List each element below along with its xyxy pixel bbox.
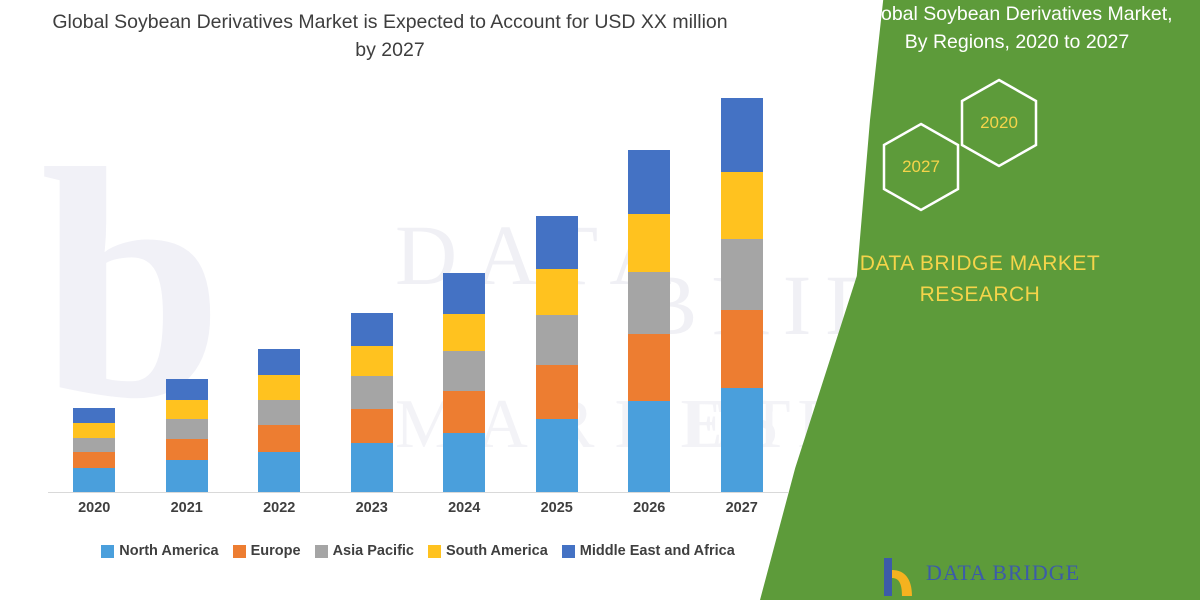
hexagon-2027: 2027: [880, 121, 962, 213]
brand-panel: Global Soybean Derivatives Market, By Re…: [760, 0, 1200, 600]
chart-panel: Global Soybean Derivatives Market is Exp…: [0, 0, 860, 600]
bar-segment[interactable]: [73, 438, 115, 452]
x-axis-tick-2023: 2023: [327, 500, 417, 516]
bar-group-2023[interactable]: [351, 313, 393, 492]
chart-legend: North AmericaEuropeAsia PacificSouth Ame…: [48, 540, 788, 562]
x-axis-tick-2026: 2026: [604, 500, 694, 516]
bar-segment[interactable]: [443, 391, 485, 433]
bar-segment[interactable]: [258, 425, 300, 452]
bar-group-2022[interactable]: [258, 349, 300, 492]
legend-label: Asia Pacific: [333, 543, 414, 559]
bridge-logo-icon: [878, 552, 922, 598]
brand-name-line2: RESEARCH: [920, 283, 1041, 306]
bar-segment[interactable]: [73, 452, 115, 468]
bar-segment[interactable]: [166, 379, 208, 400]
bar-segment[interactable]: [166, 439, 208, 460]
legend-item[interactable]: Europe: [233, 543, 301, 559]
bar-group-2021[interactable]: [166, 379, 208, 492]
x-axis-tick-2020: 2020: [49, 500, 139, 516]
bar-segment[interactable]: [258, 400, 300, 426]
bar-segment[interactable]: [721, 388, 763, 492]
bar-segment[interactable]: [628, 214, 670, 272]
hexagon-group: 2027 2020: [880, 95, 1140, 220]
legend-item[interactable]: South America: [428, 543, 548, 559]
bar-segment[interactable]: [536, 365, 578, 418]
legend-label: South America: [446, 543, 548, 559]
panel-title: Global Soybean Derivatives Market, By Re…: [852, 0, 1182, 56]
bar-segment[interactable]: [351, 346, 393, 376]
brand-name-line1: DATA BRIDGE MARKET: [860, 252, 1100, 275]
logo-text: DATA BRIDGE: [926, 560, 1080, 586]
bar-segment[interactable]: [443, 314, 485, 351]
bar-segment[interactable]: [258, 349, 300, 376]
legend-label: North America: [119, 543, 218, 559]
bar-group-2027[interactable]: [721, 98, 763, 492]
hexagon-left-label: 2027: [902, 157, 940, 177]
bar-segment[interactable]: [536, 216, 578, 268]
brand-name: DATA BRIDGE MARKET RESEARCH: [820, 248, 1140, 310]
legend-item[interactable]: North America: [101, 543, 218, 559]
bar-segment[interactable]: [258, 375, 300, 399]
hexagon-2020: 2020: [958, 77, 1040, 169]
legend-label: Middle East and Africa: [580, 543, 735, 559]
bar-segment[interactable]: [628, 272, 670, 334]
legend-item[interactable]: Asia Pacific: [315, 543, 414, 559]
bar-segment[interactable]: [536, 419, 578, 492]
bar-segment[interactable]: [443, 273, 485, 314]
chart-plot-area: [48, 92, 788, 492]
bar-group-2024[interactable]: [443, 273, 485, 492]
bar-segment[interactable]: [351, 313, 393, 346]
x-axis-tick-2021: 2021: [142, 500, 232, 516]
legend-swatch-icon: [101, 545, 114, 558]
legend-item[interactable]: Middle East and Africa: [562, 543, 735, 559]
bar-group-2026[interactable]: [628, 150, 670, 492]
bar-segment[interactable]: [351, 409, 393, 443]
hexagon-right-label: 2020: [980, 113, 1018, 133]
bar-segment[interactable]: [351, 376, 393, 408]
bar-segment[interactable]: [721, 172, 763, 239]
bar-segment[interactable]: [351, 443, 393, 492]
x-axis-tick-2022: 2022: [234, 500, 324, 516]
bar-segment[interactable]: [73, 423, 115, 437]
bar-segment[interactable]: [721, 239, 763, 310]
bar-segment[interactable]: [721, 310, 763, 388]
legend-swatch-icon: [562, 545, 575, 558]
x-axis-line: [48, 492, 788, 493]
legend-swatch-icon: [315, 545, 328, 558]
bar-group-2025[interactable]: [536, 216, 578, 492]
legend-swatch-icon: [233, 545, 246, 558]
x-axis-tick-2024: 2024: [419, 500, 509, 516]
bar-segment[interactable]: [536, 315, 578, 365]
bar-group-2020[interactable]: [73, 408, 115, 492]
bar-segment[interactable]: [166, 419, 208, 439]
bar-segment[interactable]: [73, 468, 115, 492]
legend-label: Europe: [251, 543, 301, 559]
bar-segment[interactable]: [628, 401, 670, 492]
bar-segment[interactable]: [628, 334, 670, 401]
bar-segment[interactable]: [628, 150, 670, 214]
bar-segment[interactable]: [443, 433, 485, 492]
bar-segment[interactable]: [536, 269, 578, 316]
bar-segment[interactable]: [73, 408, 115, 424]
bar-segment[interactable]: [258, 452, 300, 492]
bar-segment[interactable]: [166, 460, 208, 492]
bar-segment[interactable]: [721, 98, 763, 172]
bar-segment[interactable]: [443, 351, 485, 391]
x-axis-labels: 20202021202220232024202520262027: [48, 500, 788, 524]
legend-swatch-icon: [428, 545, 441, 558]
x-axis-tick-2025: 2025: [512, 500, 602, 516]
chart-title: Global Soybean Derivatives Market is Exp…: [40, 8, 740, 64]
bar-segment[interactable]: [166, 400, 208, 419]
company-logo: DATA BRIDGE: [878, 552, 1178, 600]
